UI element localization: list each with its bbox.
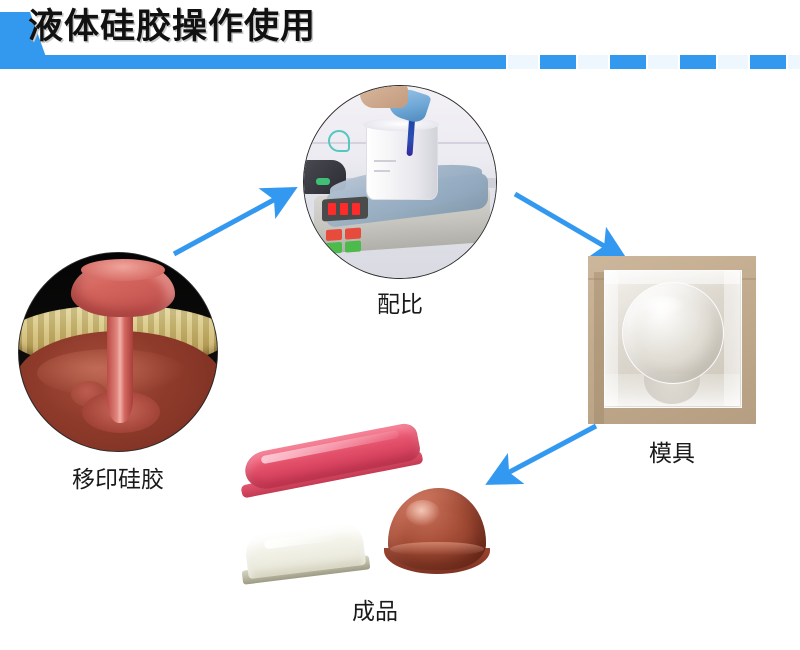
flow-node-product[interactable]: 成品	[230, 430, 520, 595]
brown-pad-highlight	[406, 500, 440, 526]
flow-node-mold[interactable]: 模具	[588, 256, 756, 424]
product-photo	[230, 430, 520, 595]
header-bar-dashed-segment	[470, 55, 800, 69]
page-header: 液体硅胶操作使用	[0, 0, 800, 72]
scale-keypad	[326, 226, 382, 254]
flow-node-ratio[interactable]: 配比	[303, 85, 497, 279]
flow-node-silicone[interactable]: 移印硅胶	[18, 252, 218, 452]
green-indicator	[316, 178, 330, 185]
mold-photo	[588, 256, 756, 424]
page-title: 液体硅胶操作使用	[28, 5, 316, 49]
brown-pad-ring	[390, 542, 484, 556]
bucket-graduation-2	[374, 170, 390, 172]
cardboard-edge	[594, 272, 604, 424]
arrow-silicone-to-ratio	[170, 186, 290, 258]
scale-digit-3	[352, 203, 360, 215]
header-bar-solid	[0, 55, 470, 69]
silicone-funnel-lip	[81, 259, 165, 281]
scale-key-red-1	[326, 229, 342, 241]
bucket-rim	[363, 118, 439, 131]
brown-dome-pad	[388, 488, 486, 570]
scale-digit-1	[328, 203, 336, 215]
operator-hand	[360, 85, 408, 108]
arrow-ratio-to-mold	[512, 190, 622, 258]
scale-digit-2	[340, 203, 348, 215]
scale-key-green-1	[326, 242, 342, 254]
node-label-product: 成品	[230, 592, 520, 626]
scale-key-green-2	[345, 241, 361, 253]
node-label-mold: 模具	[588, 434, 756, 468]
ratio-photo	[303, 85, 497, 279]
silicone-pour-stream	[107, 305, 133, 423]
scale-key-red-2	[345, 228, 361, 240]
silicone-photo	[18, 252, 218, 452]
bucket-graduation-1	[374, 160, 396, 162]
node-label-ratio: 配比	[303, 285, 497, 319]
cavity-highlight	[640, 296, 684, 316]
wall-teal-marking	[328, 130, 350, 152]
node-label-silicone: 移印硅胶	[18, 460, 218, 494]
